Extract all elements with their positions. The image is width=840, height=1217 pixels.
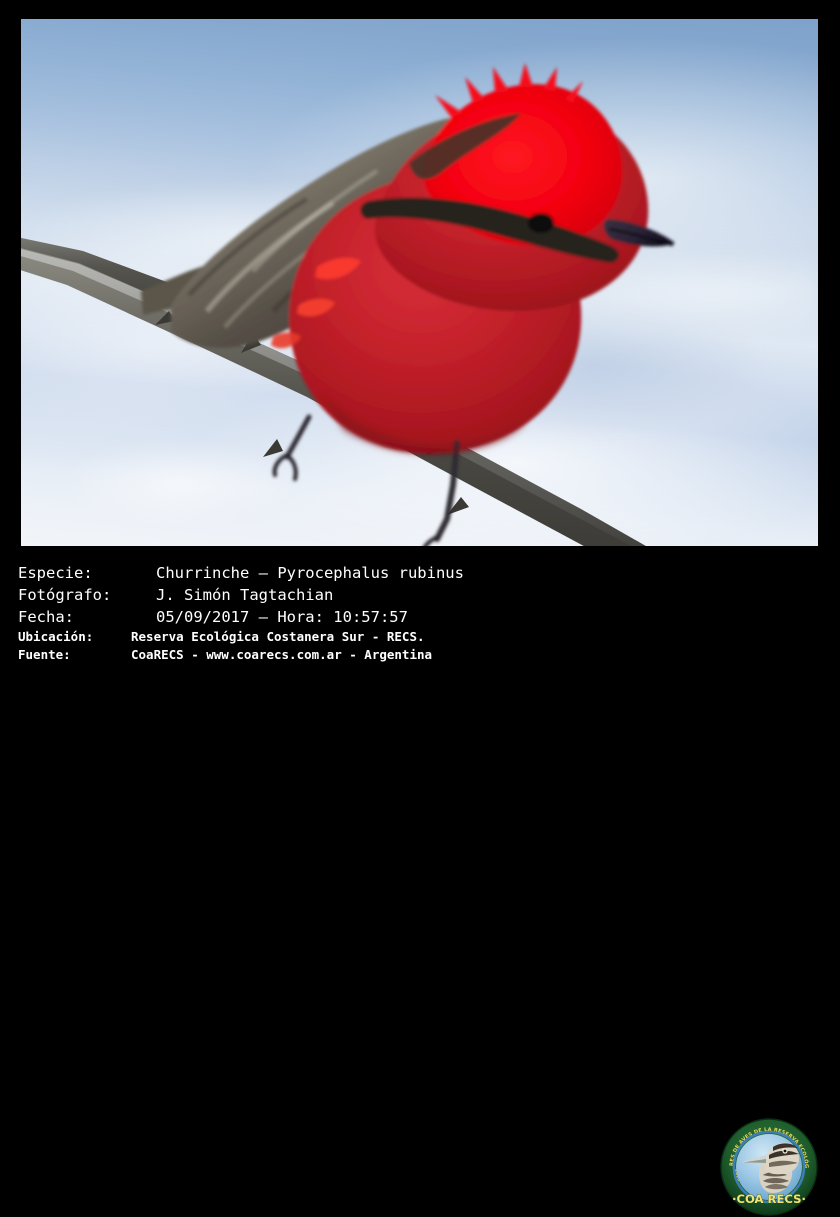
screenshot-root: Especie:Churrinche — Pyrocephalus rubinu… (0, 0, 840, 669)
caption-row-fuente: Fuente:CoaRECS - www.coarecs.com.ar - Ar… (18, 649, 432, 662)
caption-panel: Especie:Churrinche — Pyrocephalus rubinu… (0, 552, 840, 669)
bird-photo (21, 19, 818, 546)
fecha-value: 05/09/2017 — Hora: 10:57:57 (156, 610, 408, 626)
fuente-label: Fuente: (18, 649, 131, 662)
coa-recs-logo: CLUB DE OBSERVADORES DE AVES DE LA RESER… (719, 1117, 819, 1217)
logo-center-text: ·COA RECS· (732, 1192, 806, 1206)
bird-leg-rear (287, 417, 309, 457)
caption-row-fotografo: Fotógrafo:J. Simón Tagtachian (18, 588, 333, 604)
caption-row-especie: Especie:Churrinche — Pyrocephalus rubinu… (18, 566, 464, 582)
bird-toe (289, 457, 296, 479)
fuente-value: CoaRECS - www.coarecs.com.ar - Argentina (131, 649, 432, 662)
fotografo-value: J. Simón Tagtachian (156, 588, 333, 604)
caption-row-fecha: Fecha:05/09/2017 — Hora: 10:57:57 (18, 610, 408, 626)
ubicacion-value: Reserva Ecológica Costanera Sur - RECS. (131, 631, 425, 644)
fecha-label: Fecha: (18, 610, 156, 626)
fotografo-label: Fotógrafo: (18, 588, 156, 604)
especie-label: Especie: (18, 566, 156, 582)
bird-toe (423, 537, 437, 546)
ubicacion-label: Ubicación: (18, 631, 131, 644)
especie-value: Churrinche — Pyrocephalus rubinus (156, 566, 464, 582)
vermilion-flycatcher (21, 19, 818, 546)
bird-leg-front (437, 443, 457, 539)
caption-row-ubicacion: Ubicación:Reserva Ecológica Costanera Su… (18, 631, 425, 644)
bird-toe (275, 455, 287, 475)
bird-eye (528, 213, 554, 233)
